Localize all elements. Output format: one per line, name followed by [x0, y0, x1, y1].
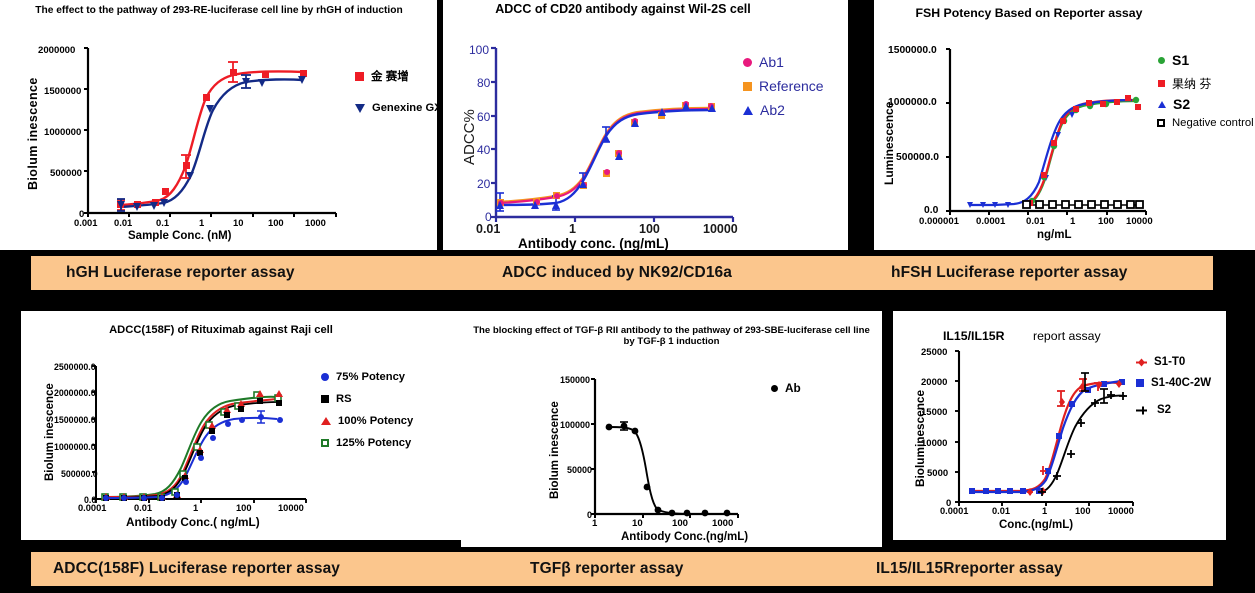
caption-tgfb: TGFβ reporter assay [530, 560, 684, 578]
legend-label-fsh-1: 果纳 芬 [1172, 75, 1211, 92]
legend-marker-circle-blue [321, 373, 329, 381]
legend-item-il15-1: S1-40C-2W [1136, 377, 1211, 389]
legend-label-adcc-2: Ab2 [760, 102, 785, 118]
legend-label-hgh-0: 金 赛增 [371, 68, 409, 84]
panel-hgh: The effect to the pathway of 293-RE-luci… [0, 0, 437, 250]
legend-item-fsh-0: S1 [1158, 52, 1189, 68]
legend-marker-square-black [321, 395, 329, 403]
legend-item-fsh-1: 果纳 芬 [1158, 75, 1211, 92]
legend-label-il15-1: S1-40C-2W [1151, 377, 1211, 389]
legend-label-fsh-2: S2 [1173, 96, 1190, 112]
plot-il15 [893, 311, 1226, 540]
panel-il15: IL15/IL15R report assay 25000 20000 1500… [893, 311, 1226, 540]
panel-adcc-cd20: ADCC of CD20 antibody against Wil-2S cel… [443, 0, 848, 250]
caption-adcc-nk92: ADCC induced by NK92/CD16a [502, 264, 732, 282]
legend-marker-triangle-up-red [321, 417, 331, 425]
legend-label-adcc-1: Reference [759, 78, 824, 94]
panel-fsh: FSH Potency Based on Reporter assay 1500… [874, 0, 1255, 250]
caption-adcc158f: ADCC(158F) Luciferase reporter assay [53, 560, 340, 578]
legend-marker-square-blue [1136, 379, 1144, 387]
legend-marker-triangle-down-blue [355, 104, 365, 113]
legend-marker-square-orange [743, 82, 752, 91]
panel-tgfb: The blocking effect of TGF-β RII antibod… [461, 311, 882, 547]
legend-label-158f-2: 100% Potency [338, 415, 413, 427]
legend-item-il15-0: S1-T0 [1136, 356, 1185, 368]
legend-label-hgh-1: Genexine GX-H [372, 102, 437, 114]
legend-label-fsh-0: S1 [1172, 52, 1189, 68]
legend-marker-triangle-up-blue [1158, 101, 1166, 108]
legend-marker-open-square-green [321, 439, 329, 447]
caption-band-row1: hGH Luciferase reporter assay ADCC induc… [31, 256, 1213, 290]
legend-label-fsh-3: Negative control [1172, 117, 1254, 129]
legend-item-hgh-1: Genexine GX-H [355, 102, 437, 114]
plot-adcc-cd20 [443, 0, 848, 250]
legend-item-il15-2: S2 [1136, 404, 1171, 416]
legend-label-il15-2: S2 [1157, 404, 1171, 416]
legend-marker-circle-pink [743, 58, 752, 67]
legend-marker-plus-diamond-red [1136, 357, 1147, 368]
legend-item-tgfb-0: Ab [771, 381, 801, 395]
legend-item-158f-2: 100% Potency [321, 415, 413, 427]
plot-tgfb [461, 311, 882, 547]
legend-marker-plus-black [1136, 405, 1147, 416]
legend-marker-square-red [355, 72, 364, 81]
panel-adcc158f: ADCC(158F) of Rituximab against Raji cel… [21, 311, 461, 540]
legend-marker-circle-black [771, 385, 778, 392]
legend-item-158f-0: 75% Potency [321, 371, 405, 383]
legend-marker-square-red [1158, 80, 1165, 87]
legend-item-adcc-2: Ab2 [743, 102, 785, 118]
legend-item-158f-1: RS [321, 393, 352, 405]
legend-label-158f-1: RS [336, 393, 352, 405]
caption-hfsh: hFSH Luciferase reporter assay [891, 264, 1127, 282]
caption-band-row2: ADCC(158F) Luciferase reporter assay TGF… [31, 552, 1213, 586]
legend-item-158f-3: 125% Potency [321, 437, 411, 449]
legend-label-158f-3: 125% Potency [336, 437, 411, 449]
legend-marker-open-square-black [1157, 119, 1165, 127]
legend-item-fsh-2: S2 [1158, 96, 1190, 112]
legend-label-il15-0: S1-T0 [1154, 356, 1185, 368]
legend-marker-triangle-up-blue [743, 106, 753, 115]
caption-hgh: hGH Luciferase reporter assay [66, 264, 295, 282]
legend-item-adcc-0: Ab1 [743, 54, 784, 70]
legend-item-fsh-3: Negative control [1157, 117, 1254, 129]
caption-il15: IL15/IL15Rreporter assay [876, 560, 1063, 578]
plot-hgh [0, 0, 437, 250]
legend-label-158f-0: 75% Potency [336, 371, 405, 383]
legend-marker-circle-green [1158, 57, 1165, 64]
legend-item-adcc-1: Reference [743, 78, 824, 94]
legend-label-adcc-0: Ab1 [759, 54, 784, 70]
legend-item-hgh-0: 金 赛增 [355, 68, 409, 84]
legend-label-tgfb-0: Ab [785, 381, 801, 395]
